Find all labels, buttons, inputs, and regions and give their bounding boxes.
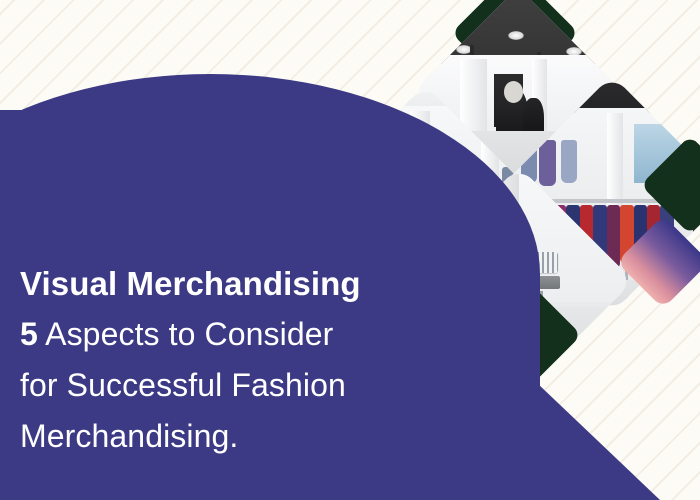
headline-line-3: for Successful Fashion (20, 360, 440, 411)
poster-canvas: Visual Merchandising 5 Aspects to Consid… (0, 0, 700, 500)
headline-number: 5 (20, 316, 38, 352)
page-title: Visual Merchandising 5 Aspects to Consid… (20, 258, 440, 462)
headline-line-1: Visual Merchandising (20, 258, 440, 309)
headline-line-4: Merchandising. (20, 411, 440, 462)
headline-line-2: 5 Aspects to Consider (20, 309, 440, 360)
headline-line-2-rest: Aspects to Consider (38, 316, 333, 352)
